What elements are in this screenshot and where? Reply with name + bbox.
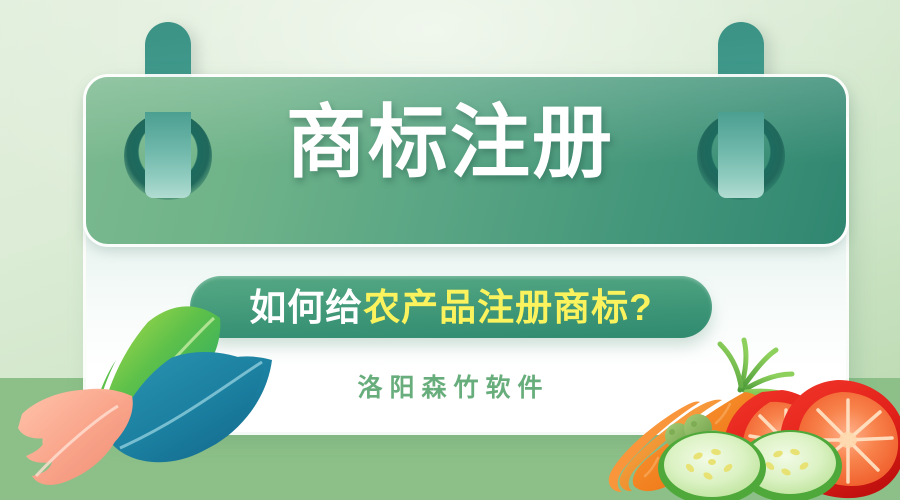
- subtitle-prefix: 如何给: [249, 287, 363, 328]
- subtitle-highlight: 农产品注册商标?: [363, 287, 653, 328]
- subtitle-text: 如何给农产品注册商标?: [249, 289, 653, 326]
- poster-canvas: 商标注册 如何给农产品注册商标? 洛阳森竹软件: [0, 0, 900, 500]
- page-title: 商标注册: [0, 103, 900, 183]
- brand-name: 洛阳森竹软件: [0, 376, 900, 401]
- subtitle-pill: 如何给农产品注册商标?: [190, 276, 712, 338]
